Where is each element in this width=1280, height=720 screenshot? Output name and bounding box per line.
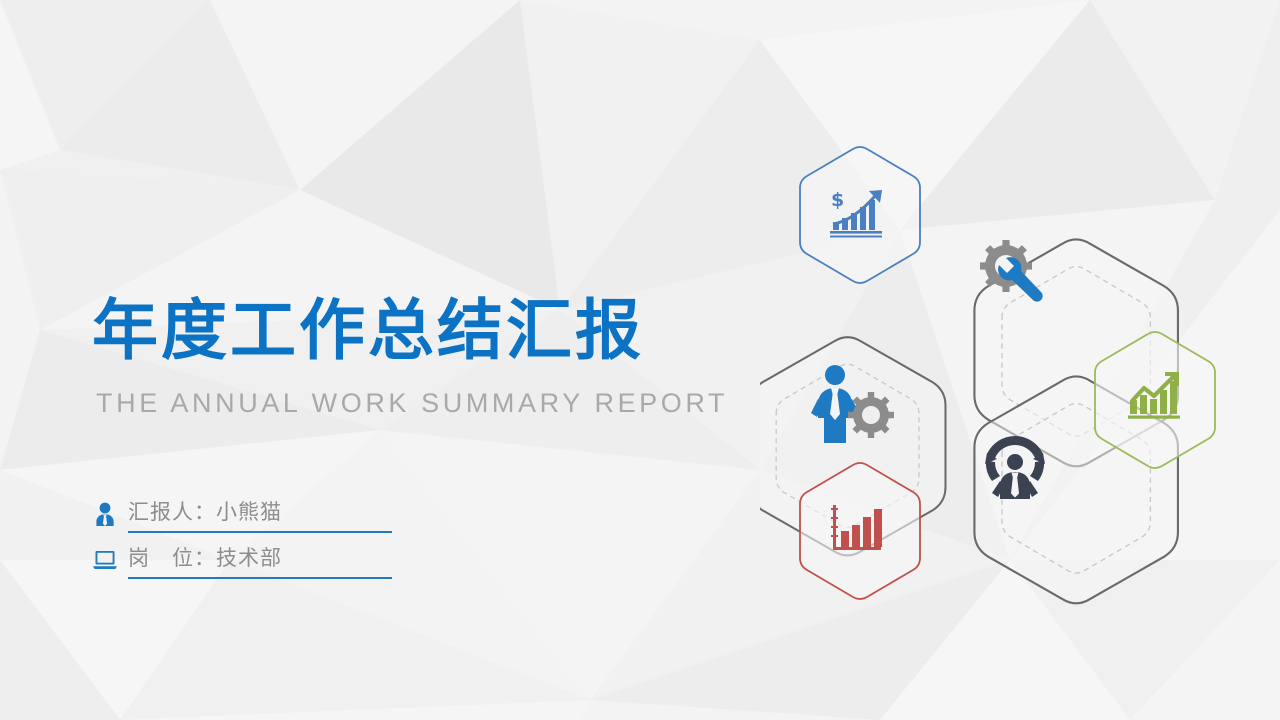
position-label: 岗 位：技术部	[128, 546, 282, 570]
page-subtitle: THE ANNUAL WORK SUMMARY REPORT	[96, 388, 732, 419]
laptop-icon	[92, 546, 118, 574]
hexagon-outlines	[760, 130, 1280, 610]
presenter-info-block: 汇报人：小熊猫 岗 位：技术部	[92, 494, 392, 586]
presenter-underline: 汇报人：小熊猫	[128, 496, 392, 533]
hex-finance-growth[interactable]	[800, 147, 920, 283]
page-title: 年度工作总结汇报	[92, 296, 732, 366]
hexagon-cluster: $	[760, 130, 1280, 610]
title-block: 年度工作总结汇报 THE ANNUAL WORK SUMMARY REPORT	[92, 296, 732, 419]
presentation-slide: 年度工作总结汇报 THE ANNUAL WORK SUMMARY REPORT …	[0, 0, 1280, 720]
presenter-label: 汇报人：小熊猫	[128, 500, 282, 524]
info-row-presenter: 汇报人：小熊猫	[92, 494, 392, 534]
person-icon	[92, 500, 118, 528]
info-row-position: 岗 位：技术部	[92, 540, 392, 580]
position-underline: 岗 位：技术部	[128, 542, 392, 579]
